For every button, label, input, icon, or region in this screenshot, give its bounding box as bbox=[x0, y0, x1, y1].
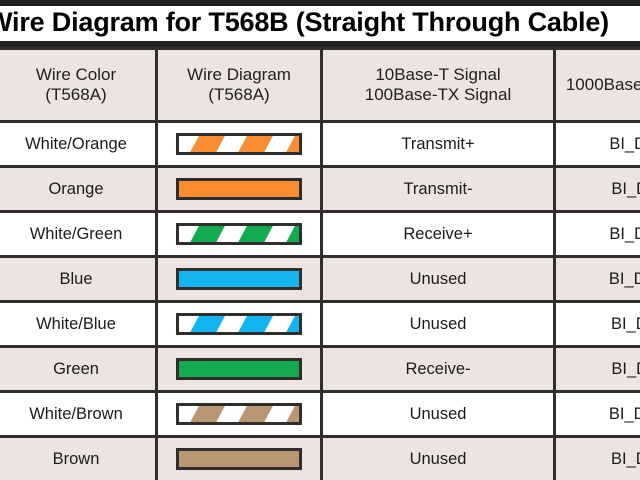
wire-diagram-cell bbox=[157, 392, 322, 437]
wire-table: Wire Color(T568A)Wire Diagram(T568A)10Ba… bbox=[0, 47, 640, 480]
signal-10-100: Unused bbox=[322, 302, 555, 347]
table-row: GreenReceive-BI_DB- bbox=[0, 347, 640, 392]
signal-1000: BI_DB- bbox=[555, 347, 640, 392]
column-header-line1: 10Base-T Signal bbox=[323, 65, 553, 85]
wire-diagram-cell bbox=[157, 257, 322, 302]
column-header-line2: (T568A) bbox=[158, 85, 320, 105]
wire-color-label: Blue bbox=[0, 257, 157, 302]
signal-1000: BI_DD- bbox=[555, 437, 640, 480]
table-row: BrownUnusedBI_DD- bbox=[0, 437, 640, 480]
signal-1000: BI_DA+ bbox=[555, 122, 640, 167]
wire-swatch-striped-icon bbox=[176, 223, 302, 245]
wire-color-label: White/Brown bbox=[0, 392, 157, 437]
signal-1000: BI_DB+ bbox=[555, 212, 640, 257]
signal-10-100: Transmit+ bbox=[322, 122, 555, 167]
wire-color-label: White/Green bbox=[0, 212, 157, 257]
wire-diagram-cell bbox=[157, 167, 322, 212]
signal-1000: BI_DC+ bbox=[555, 257, 640, 302]
column-header-line1: Wire Color bbox=[0, 65, 155, 85]
signal-10-100: Receive- bbox=[322, 347, 555, 392]
signal-1000: BI_DD+ bbox=[555, 392, 640, 437]
column-header-line2: (T568A) bbox=[0, 85, 155, 105]
wire-diagram-cell bbox=[157, 212, 322, 257]
wire-swatch-solid-icon bbox=[176, 448, 302, 470]
column-header-line2: 100Base-TX Signal bbox=[323, 85, 553, 105]
wire-table-container: Wire Color(T568A)Wire Diagram(T568A)10Ba… bbox=[0, 47, 640, 480]
wire-swatch-striped-icon bbox=[176, 133, 302, 155]
signal-10-100: Unused bbox=[322, 437, 555, 480]
wire-swatch-striped-icon bbox=[176, 313, 302, 335]
wire-diagram-cell bbox=[157, 302, 322, 347]
table-header-row: Wire Color(T568A)Wire Diagram(T568A)10Ba… bbox=[0, 49, 640, 122]
signal-1000: BI_DA- bbox=[555, 167, 640, 212]
wire-swatch-solid-icon bbox=[176, 358, 302, 380]
wiring-diagram-page: Wire Diagram for T568B (Straight Through… bbox=[0, 0, 640, 480]
column-header-line1: 1000Base-T Signal bbox=[556, 75, 640, 95]
wire-swatch-solid-icon bbox=[176, 268, 302, 290]
signal-10-100: Transmit- bbox=[322, 167, 555, 212]
column-header-line1: Wire Diagram bbox=[158, 65, 320, 85]
signal-10-100: Unused bbox=[322, 257, 555, 302]
wire-diagram-cell bbox=[157, 437, 322, 480]
table-row: BlueUnusedBI_DC+ bbox=[0, 257, 640, 302]
column-header-4: 1000Base-T Signal bbox=[555, 49, 640, 122]
table-row: White/BrownUnusedBI_DD+ bbox=[0, 392, 640, 437]
page-title: Wire Diagram for T568B (Straight Through… bbox=[0, 6, 609, 40]
wire-color-label: White/Blue bbox=[0, 302, 157, 347]
table-row: OrangeTransmit-BI_DA- bbox=[0, 167, 640, 212]
table-row: White/BlueUnusedBI_DC- bbox=[0, 302, 640, 347]
title-bar: Wire Diagram for T568B (Straight Through… bbox=[0, 6, 640, 41]
wire-color-label: White/Orange bbox=[0, 122, 157, 167]
wire-color-label: Brown bbox=[0, 437, 157, 480]
column-header-2: Wire Diagram(T568A) bbox=[157, 49, 322, 122]
column-header-1: Wire Color(T568A) bbox=[0, 49, 157, 122]
signal-10-100: Unused bbox=[322, 392, 555, 437]
table-row: White/OrangeTransmit+BI_DA+ bbox=[0, 122, 640, 167]
wire-color-label: Green bbox=[0, 347, 157, 392]
wire-color-label: Orange bbox=[0, 167, 157, 212]
table-row: White/GreenReceive+BI_DB+ bbox=[0, 212, 640, 257]
signal-1000: BI_DC- bbox=[555, 302, 640, 347]
wire-diagram-cell bbox=[157, 122, 322, 167]
wire-diagram-cell bbox=[157, 347, 322, 392]
column-header-3: 10Base-T Signal100Base-TX Signal bbox=[322, 49, 555, 122]
wire-swatch-solid-icon bbox=[176, 178, 302, 200]
signal-10-100: Receive+ bbox=[322, 212, 555, 257]
wire-swatch-striped-icon bbox=[176, 403, 302, 425]
